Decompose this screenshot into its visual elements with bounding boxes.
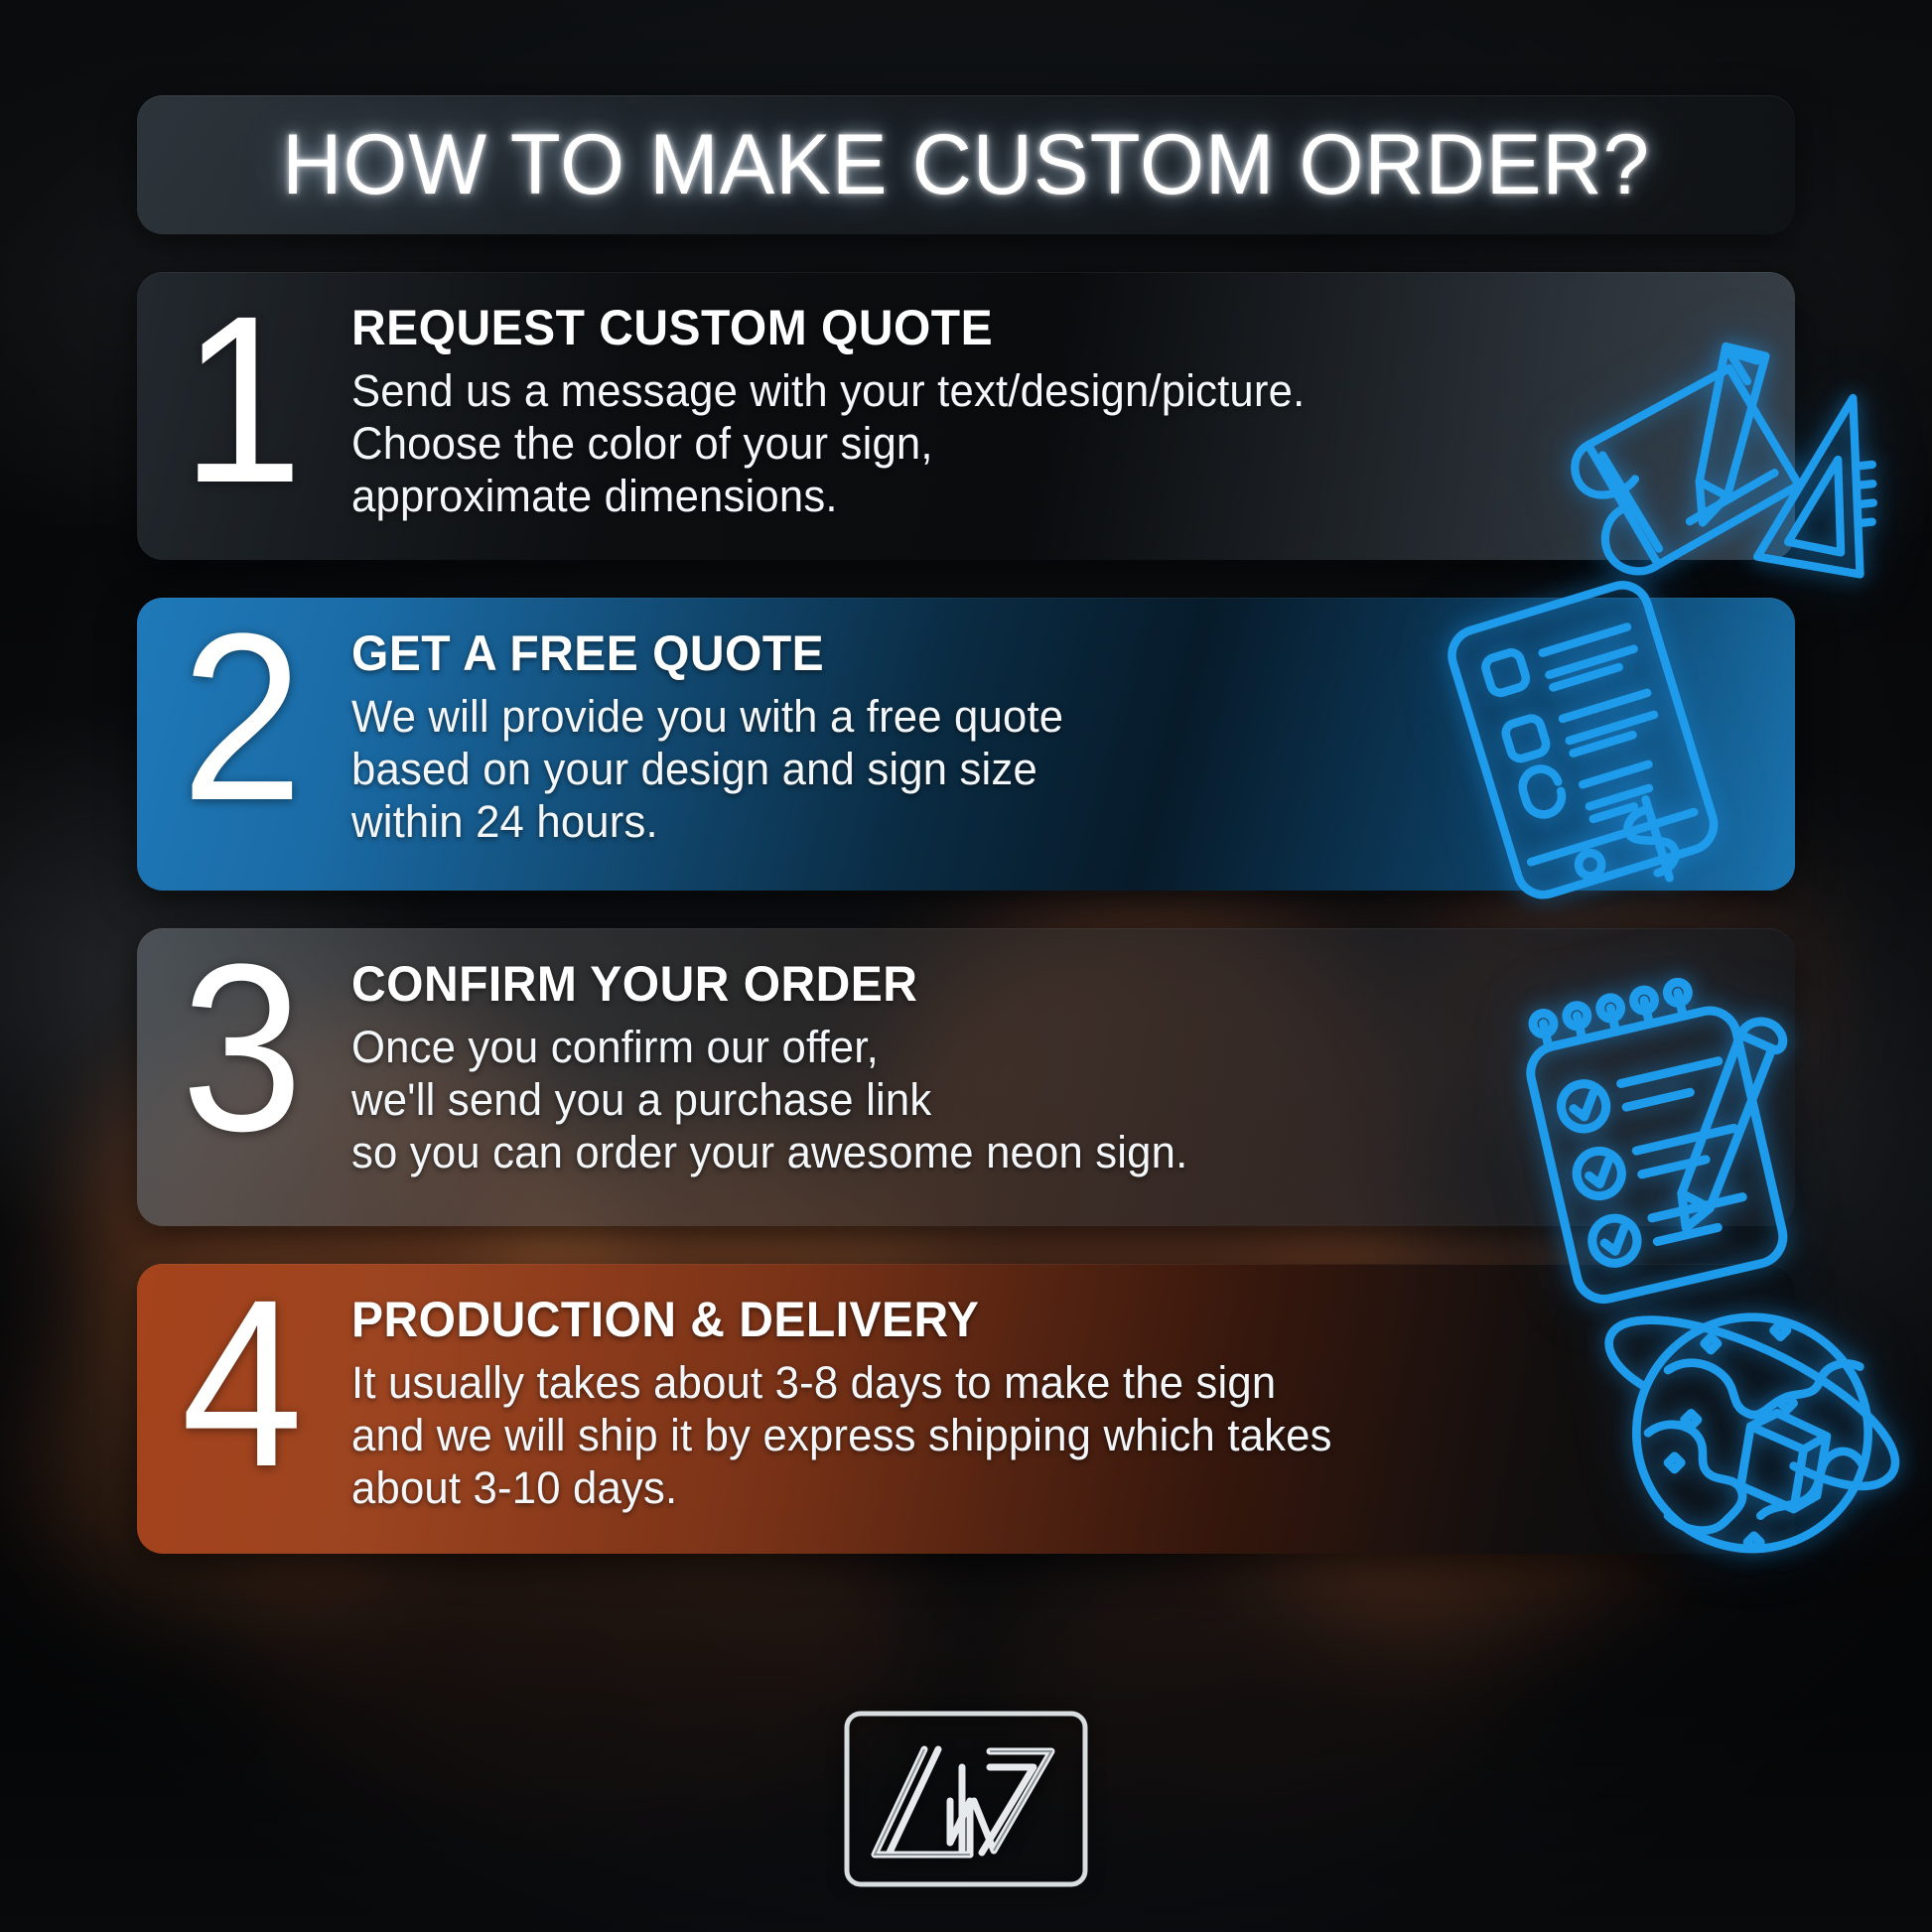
step-card-2: 2 GET A FREE QUOTE We will provide you w… [137,598,1795,891]
step-description-3: Once you confirm our offer, we'll send y… [351,1021,1714,1178]
step-line: so you can order your awesome neon sign. [351,1126,1714,1178]
step-card-1: 1 REQUEST CUSTOM QUOTE Send us a message… [137,272,1795,560]
step-line: Once you confirm our offer, [351,1021,1714,1073]
step-line: We will provide you with a free quote [351,690,1714,743]
step-number-3: 3 [145,928,335,1161]
infographic-canvas: HOW TO MAKE CUSTOM ORDER? 1 REQUEST CUST… [0,0,1932,1932]
step-line: within 24 hours. [351,795,1714,848]
step-body-1: REQUEST CUSTOM QUOTE Send us a message w… [344,272,1795,522]
step-body-3: CONFIRM YOUR ORDER Once you confirm our … [344,928,1795,1178]
page-title: HOW TO MAKE CUSTOM ORDER? [282,122,1650,207]
step-description-2: We will provide you with a free quote ba… [351,690,1714,848]
step-body-4: PRODUCTION & DELIVERY It usually takes a… [344,1264,1795,1514]
step-line: approximate dimensions. [351,470,1714,522]
ln-monogram-logo [839,1706,1093,1892]
step-line: we'll send you a purchase link [351,1073,1714,1126]
step-body-2: GET A FREE QUOTE We will provide you wit… [344,598,1795,848]
step-description-4: It usually takes about 3-8 days to make … [351,1356,1714,1514]
step-line: Choose the color of your sign, [351,417,1714,470]
step-number-1: 1 [145,272,335,512]
step-line: about 3-10 days. [351,1461,1714,1514]
title-banner: HOW TO MAKE CUSTOM ORDER? [137,95,1795,234]
step-title-1: REQUEST CUSTOM QUOTE [351,302,1699,354]
step-title-2: GET A FREE QUOTE [351,627,1699,680]
content-column: HOW TO MAKE CUSTOM ORDER? 1 REQUEST CUST… [137,95,1795,1554]
step-card-4: 4 PRODUCTION & DELIVERY It usually takes… [137,1264,1795,1554]
step-line: Send us a message with your text/design/… [351,364,1714,417]
step-line: and we will ship it by express shipping … [351,1409,1714,1461]
step-title-3: CONFIRM YOUR ORDER [351,958,1699,1011]
step-line: based on your design and sign size [351,743,1714,795]
step-line: It usually takes about 3-8 days to make … [351,1356,1714,1409]
step-title-4: PRODUCTION & DELIVERY [351,1294,1699,1346]
step-card-3: 3 CONFIRM YOUR ORDER Once you confirm ou… [137,928,1795,1226]
step-number-4: 4 [145,1264,335,1496]
step-number-2: 2 [145,598,335,830]
step-description-1: Send us a message with your text/design/… [351,364,1714,522]
